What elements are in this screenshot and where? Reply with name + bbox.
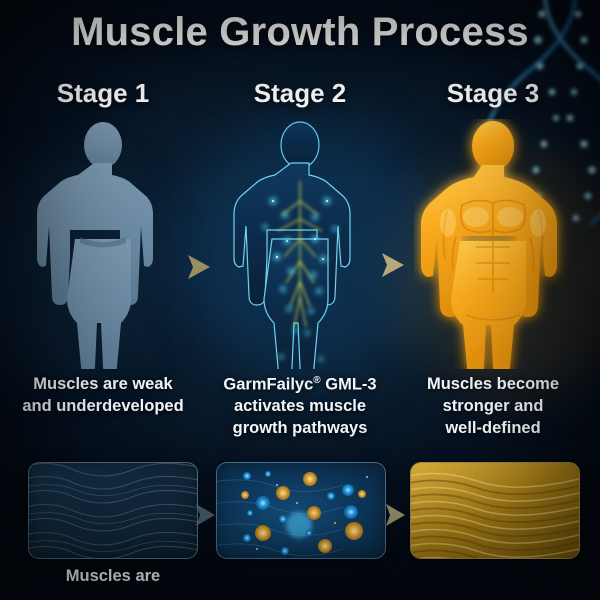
- stage-column-3: Stage 3: [398, 78, 588, 439]
- caption-line: Muscles are: [28, 566, 198, 588]
- arrow-tile1-to-tile2-icon: [188, 498, 222, 532]
- arrow-stage2-to-stage3-icon: [376, 248, 410, 282]
- figure-wrap-1: [8, 115, 198, 370]
- caption-line: growth pathways: [205, 418, 395, 440]
- infographic-root: Muscle Growth Process Stage 1: [0, 0, 600, 600]
- molecule-particle-tile: [216, 462, 386, 559]
- arrow-stage1-to-stage2-icon: [182, 250, 216, 284]
- stage-label-3: Stage 3: [398, 78, 588, 109]
- stage-caption-2: GarmFailyc® GML-3 activates muscle growt…: [205, 374, 395, 440]
- tiles-container: [0, 462, 600, 567]
- arrow-tile2-to-tile3-icon: [378, 498, 412, 532]
- figure-wrap-2: [205, 115, 395, 370]
- caption-line: GarmFailyc® GML-3: [205, 374, 395, 396]
- activated-body-silhouette-icon: [225, 119, 375, 369]
- bottom-caption: Muscles are: [28, 566, 198, 588]
- caption-line: Muscles are weak: [8, 374, 198, 396]
- brand-name: GarmFailyc: [223, 376, 313, 394]
- figure-wrap-3: [398, 115, 588, 370]
- stage-caption-3: Muscles become stronger and well-defined: [398, 374, 588, 439]
- muscle-fiber-tile-weak: [28, 462, 198, 559]
- caption-line: well-defined: [398, 418, 588, 440]
- weak-body-silhouette-icon: [28, 119, 178, 369]
- caption-line: Muscles become: [398, 374, 588, 396]
- trademark-symbol: ®: [313, 375, 320, 386]
- stage-label-1: Stage 1: [8, 78, 198, 109]
- stage-column-2: Stage 2: [205, 78, 395, 440]
- stage-column-1: Stage 1: [8, 78, 198, 418]
- stages-container: Stage 1: [0, 78, 600, 478]
- muscle-fiber-tile-strong: [410, 462, 580, 559]
- stage-label-2: Stage 2: [205, 78, 395, 109]
- product-code: GML-3: [325, 376, 376, 394]
- caption-line: and underdeveloped: [8, 396, 198, 418]
- stage-caption-1: Muscles are weak and underdeveloped: [8, 374, 198, 418]
- muscular-body-silhouette-icon: [414, 119, 572, 369]
- page-title: Muscle Growth Process: [0, 10, 600, 55]
- caption-line: stronger and: [398, 396, 588, 418]
- caption-line: activates muscle: [205, 396, 395, 418]
